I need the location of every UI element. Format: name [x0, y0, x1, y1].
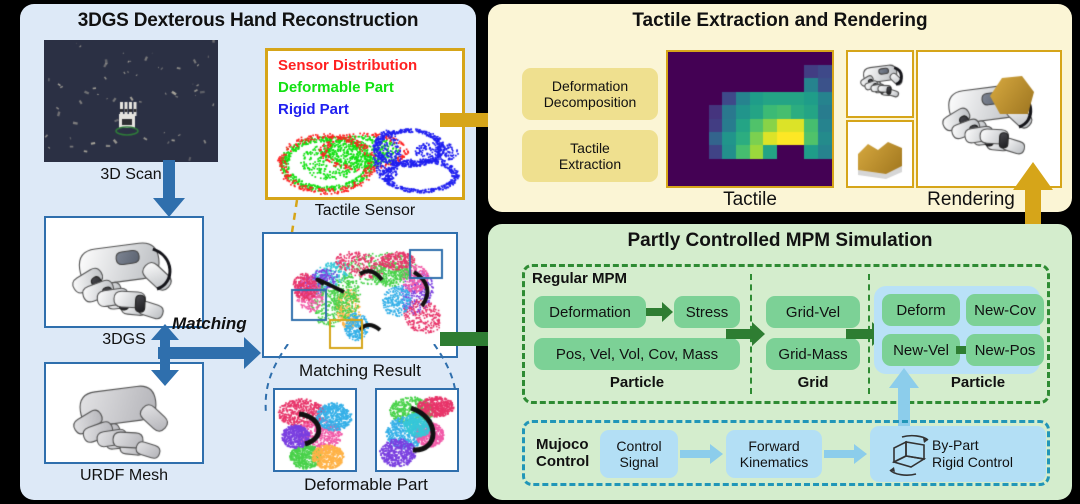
- caption-urdf-mesh: URDF Mesh: [44, 467, 204, 485]
- block-by-part-rigid-control[interactable]: By-Part Rigid Control: [870, 426, 1046, 482]
- image-object-thumbnail: [846, 120, 914, 188]
- object-thumb-canvas: [848, 122, 912, 186]
- arrow-deformation-to-stress: [646, 302, 674, 322]
- gs-canvas: [46, 218, 202, 326]
- image-tactile-sensor: Sensor Distribution Deformable Part Rigi…: [265, 48, 465, 200]
- label-regular-mpm: Regular MPM: [532, 270, 627, 287]
- block-new-vel-label: New-Vel: [893, 342, 949, 359]
- label-mujoco-line2: Control: [536, 453, 589, 470]
- block-forward-kinematics-line1: Forward: [748, 438, 799, 454]
- pill-tactile-extraction[interactable]: TactileExtraction: [522, 130, 658, 182]
- stage-label-particle-1: Particle: [534, 374, 740, 391]
- panel-title-tactile: Tactile Extraction and Rendering: [488, 10, 1072, 32]
- block-rigid-control-line2: Rigid Control: [932, 454, 1040, 471]
- arrow-scan-to-3dgs: [152, 160, 186, 218]
- caption-3d-scan: 3D Scan: [44, 166, 218, 184]
- pill-deformation-decomposition-label: DeformationDecomposition: [544, 78, 637, 110]
- arrow-signal-to-kinematics: [680, 444, 724, 464]
- panel-mpm-simulation: Partly Controlled MPM Simulation Regular…: [488, 224, 1072, 500]
- block-particle-properties[interactable]: Pos, Vel, Vol, Cov, Mass: [534, 338, 740, 370]
- block-control-signal-line2: Signal: [620, 454, 659, 470]
- label-mujoco-line1: Mujoco: [536, 436, 589, 453]
- matching-canvas: [264, 234, 456, 356]
- arrow-kinematics-to-rigid: [824, 444, 868, 464]
- image-deformable-crop-1: [273, 388, 357, 472]
- scan-canvas: [44, 40, 218, 162]
- block-new-cov-label: New-Cov: [974, 302, 1036, 319]
- block-grid-mass-label: Grid-Mass: [778, 346, 847, 363]
- panel-tactile-extraction: Tactile Extraction and Rendering Deforma…: [488, 4, 1072, 212]
- panel-title-left: 3DGS Dexterous Hand Reconstruction: [20, 10, 476, 32]
- stage-label-grid: Grid: [766, 374, 860, 391]
- block-new-vel[interactable]: New-Vel: [882, 334, 960, 366]
- arrow-matching: [158, 336, 262, 370]
- deformable-canvas-1: [275, 390, 355, 470]
- block-new-pos-label: New-Pos: [975, 342, 1036, 359]
- arrow-particle-to-grid: [726, 322, 766, 346]
- label-matching: Matching: [172, 314, 247, 334]
- block-deformation[interactable]: Deformation: [534, 296, 646, 328]
- pill-tactile-extraction-label: TactileExtraction: [559, 140, 621, 172]
- cube-rotation-icon: [880, 432, 938, 478]
- tactile-heatmap-canvas: [668, 52, 832, 186]
- panel-title-mpm: Partly Controlled MPM Simulation: [488, 230, 1072, 252]
- hand-thumb-canvas: [848, 52, 912, 116]
- block-deformation-label: Deformation: [549, 304, 631, 321]
- label-mujoco-control: Mujoco Control: [536, 436, 589, 471]
- image-hand-thumbnail: [846, 50, 914, 118]
- image-matching-result: [262, 232, 458, 358]
- block-forward-kinematics[interactable]: Forward Kinematics: [726, 430, 822, 478]
- block-particle-properties-label: Pos, Vel, Vol, Cov, Mass: [556, 346, 718, 363]
- caption-deformable-part: Deformable Part: [263, 475, 469, 495]
- panel-3dgs-reconstruction: 3DGS Dexterous Hand Reconstruction 3D Sc…: [20, 4, 476, 500]
- block-new-pos[interactable]: New-Pos: [966, 334, 1044, 366]
- pill-deformation-decomposition[interactable]: DeformationDecomposition: [522, 68, 658, 120]
- block-deform[interactable]: Deform: [882, 294, 960, 326]
- caption-tactile: Tactile: [666, 189, 834, 211]
- stage-label-particle-2: Particle: [908, 374, 1048, 391]
- figure-root: 3DGS Dexterous Hand Reconstruction 3D Sc…: [0, 0, 1080, 504]
- block-control-signal-line1: Control: [616, 438, 661, 454]
- deformable-canvas-2: [377, 390, 457, 470]
- block-new-cov[interactable]: New-Cov: [966, 294, 1044, 326]
- block-deform-label: Deform: [896, 302, 945, 319]
- block-control-signal[interactable]: Control Signal: [600, 430, 678, 478]
- block-stress-label: Stress: [686, 304, 729, 321]
- image-3d-scan: [44, 40, 218, 162]
- block-rigid-control-line1: By-Part: [932, 437, 1040, 454]
- block-forward-kinematics-line2: Kinematics: [740, 454, 808, 470]
- sensor-pointcloud-canvas: [268, 51, 462, 197]
- image-3dgs: [44, 216, 204, 328]
- image-deformable-crop-2: [375, 388, 459, 472]
- block-grid-vel-label: Grid-Vel: [786, 304, 840, 321]
- image-tactile-heatmap: [666, 50, 834, 188]
